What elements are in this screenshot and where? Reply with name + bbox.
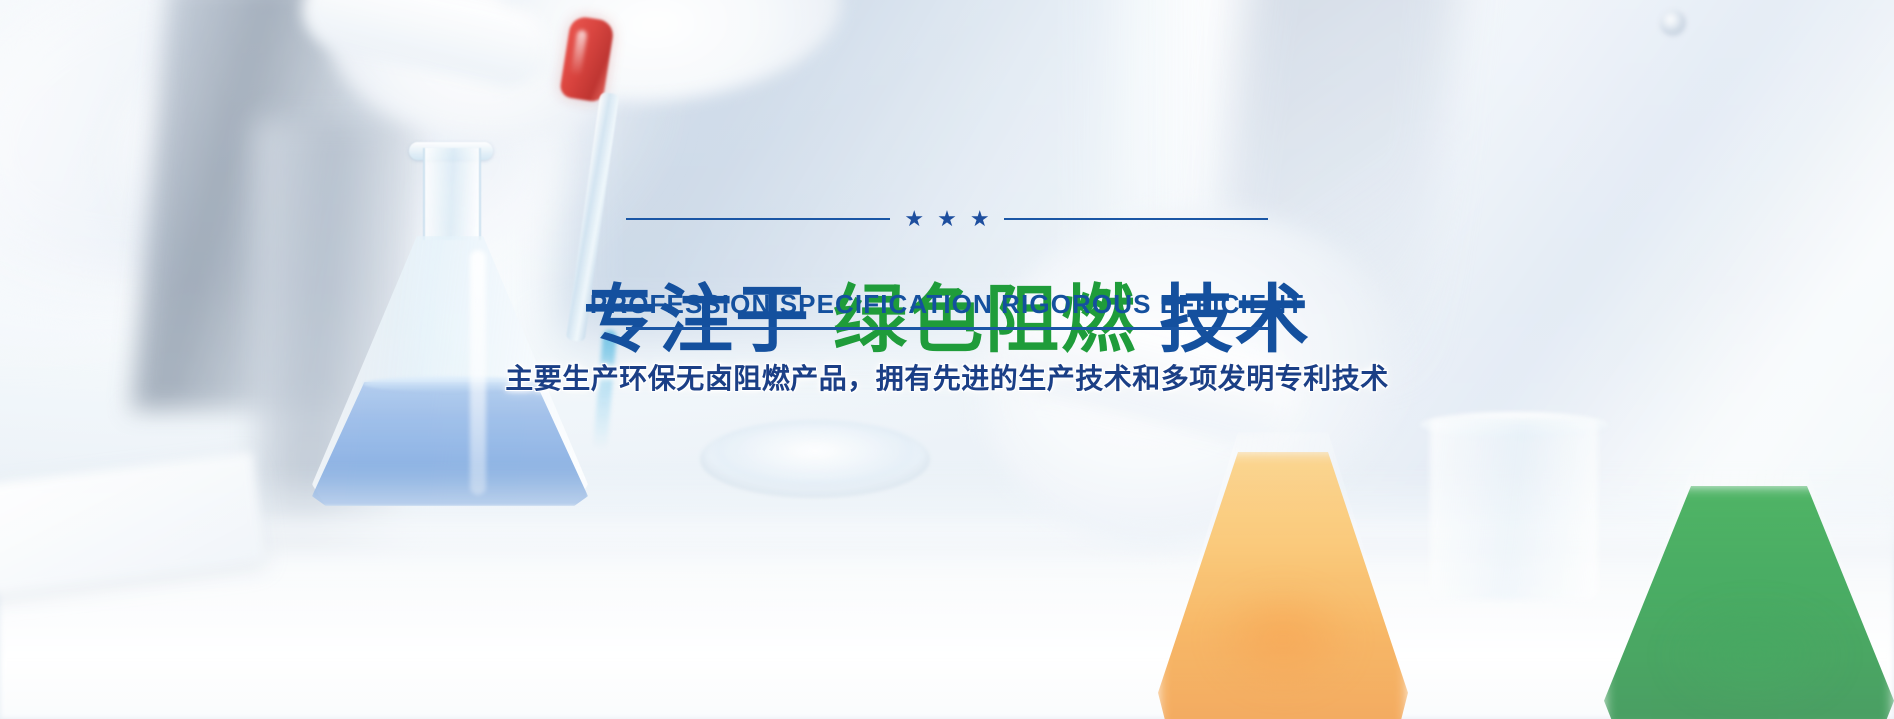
headline-underline [626,327,1268,330]
banner-subtitle: PROFESSION SPECIFICATION RIGOROUS EFFICI… [590,289,1304,320]
star-icon: ★ [937,208,957,230]
rule-line-right [1004,218,1268,220]
hero-banner: ★ ★ ★ 专注于绿色阻燃技术 PROFESSION SPECIFICATION… [0,0,1894,719]
banner-tagline: 主要生产环保无卤阻燃产品，拥有先进的生产技术和多项发明专利技术 [505,357,1389,397]
banner-content: ★ ★ ★ 专注于绿色阻燃技术 PROFESSION SPECIFICATION… [0,0,1894,719]
star-icon: ★ [904,208,924,230]
star-group: ★ ★ ★ [904,208,989,230]
star-icon: ★ [970,208,990,230]
rule-line-left [626,218,890,220]
decorative-rule: ★ ★ ★ [626,208,1268,230]
